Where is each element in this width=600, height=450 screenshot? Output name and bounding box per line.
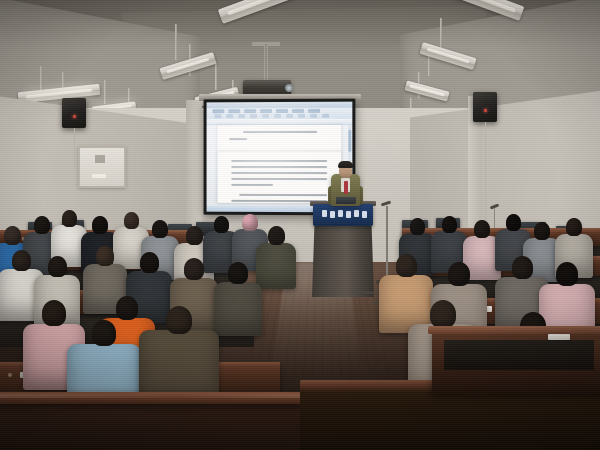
lectern-glyph (362, 211, 367, 218)
lectern-glyph (338, 210, 343, 217)
attendee-27-tan-coat-head (396, 254, 417, 277)
lectern-glyph (346, 211, 351, 218)
attendee-18-pink-hood-head (42, 300, 66, 326)
attendee-7-head (186, 226, 203, 245)
attendee-15-head (184, 258, 204, 280)
ceiling-hanging-rod (104, 80, 106, 104)
right-foreground-desk-top (428, 326, 600, 334)
ceiling-hanging-rod (40, 66, 42, 90)
projector-mount-pole (264, 44, 268, 82)
lectern-laptop (336, 197, 356, 204)
attendee-30-head (556, 262, 578, 286)
attendee-20-brown-coat-head (166, 306, 192, 334)
attendee-28-head (448, 262, 470, 286)
attendee-6-head (152, 220, 168, 238)
attendee-2-head (34, 216, 50, 234)
attendee-9-pink-beanie-head (242, 214, 258, 231)
attendee-10-body (256, 243, 296, 289)
foreground-bench-back (0, 398, 300, 450)
wall-speaker-left-cable (74, 128, 75, 168)
microphone-stand-center (386, 206, 388, 282)
wall-speaker-right-led-icon (484, 109, 487, 112)
desk-label-plate (548, 334, 570, 340)
wall-notice-board (78, 146, 126, 188)
attendee-21-head (410, 218, 425, 235)
presenter-cap (338, 161, 353, 168)
wall-speaker-right (473, 92, 497, 122)
attendee-14-head (140, 252, 159, 273)
attendee-10-head (268, 226, 285, 245)
presenter-tie (344, 181, 348, 194)
attendee-4-head (92, 216, 108, 234)
lectern-glyph (354, 210, 359, 217)
right-foreground-desk-panel (444, 340, 594, 370)
attendee-29-head (512, 256, 533, 279)
attendee-17-orange-head (116, 296, 138, 320)
lectern-glyph (322, 210, 327, 217)
attendee-1-head (4, 226, 21, 245)
lecture-hall-photo (0, 0, 600, 450)
notice-board-tag (92, 174, 106, 178)
attendee-11-head (12, 250, 31, 271)
attendee-8-head (214, 216, 229, 233)
attendee-19-blue-jacket-head (92, 320, 116, 346)
attendee-16-head (228, 262, 248, 284)
attendee-12-head (48, 256, 67, 277)
attendee-13-head (96, 246, 114, 266)
attendee-23-head (474, 220, 490, 238)
attendee-31-head (430, 300, 456, 328)
wall-speaker-left-led-icon (73, 115, 76, 118)
attendee-16-body (214, 282, 262, 336)
ceiling-hanging-rod (175, 24, 177, 60)
attendee-5-head (124, 212, 139, 229)
attendee-25-head (534, 222, 550, 240)
foreground-bench-gloss (0, 394, 304, 398)
foreground-bench-right (300, 386, 600, 450)
attendee-22-head (442, 216, 457, 233)
projector-lens-icon (285, 84, 293, 92)
attendee-24-head (506, 214, 521, 231)
notice-board-marking (95, 155, 105, 163)
attendee-26-head (566, 218, 582, 236)
ceiling-hanging-rod (215, 62, 217, 90)
lectern-glyph (330, 211, 335, 218)
wall-speaker-left (62, 98, 86, 128)
desk-row-foreground-knob (8, 373, 12, 377)
attendee-3-head (62, 210, 77, 227)
